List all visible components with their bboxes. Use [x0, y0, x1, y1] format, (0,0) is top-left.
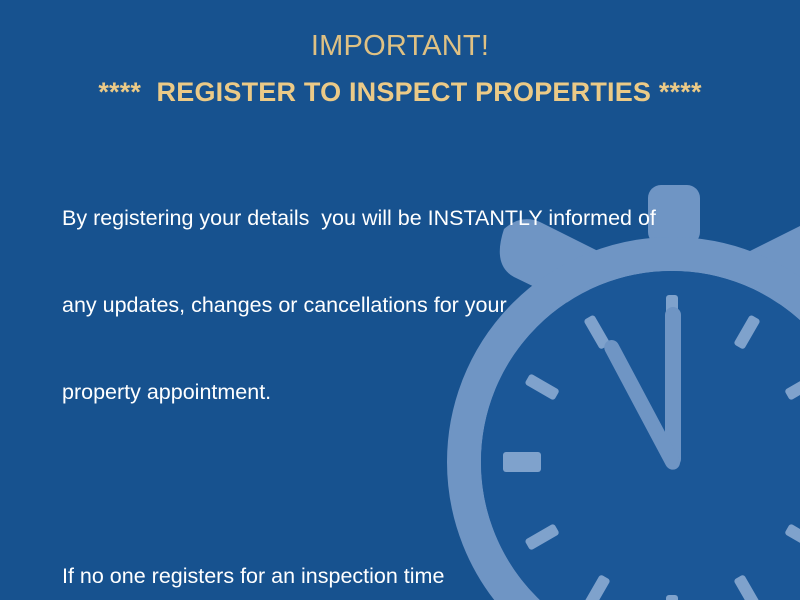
header-block: IMPORTANT! **** REGISTER TO INSPECT PROP…: [0, 28, 800, 110]
promo-slide: IMPORTANT! **** REGISTER TO INSPECT PROP…: [0, 0, 800, 600]
paragraph-no-registrations-line1: If no one registers for an inspection ti…: [62, 562, 722, 591]
page-title: IMPORTANT!: [0, 28, 800, 66]
paragraph-registering-line2: any updates, changes or cancellations fo…: [62, 291, 722, 320]
paragraph-no-registrations: If no one registers for an inspection ti…: [62, 504, 722, 600]
page-subtitle: **** REGISTER TO INSPECT PROPERTIES ****: [0, 75, 800, 110]
paragraph-registering: By registering your details you will be …: [62, 146, 722, 465]
body-block: By registering your details you will be …: [62, 146, 722, 600]
paragraph-registering-line3: property appointment.: [62, 378, 722, 407]
paragraph-registering-line1: By registering your details you will be …: [62, 204, 722, 233]
